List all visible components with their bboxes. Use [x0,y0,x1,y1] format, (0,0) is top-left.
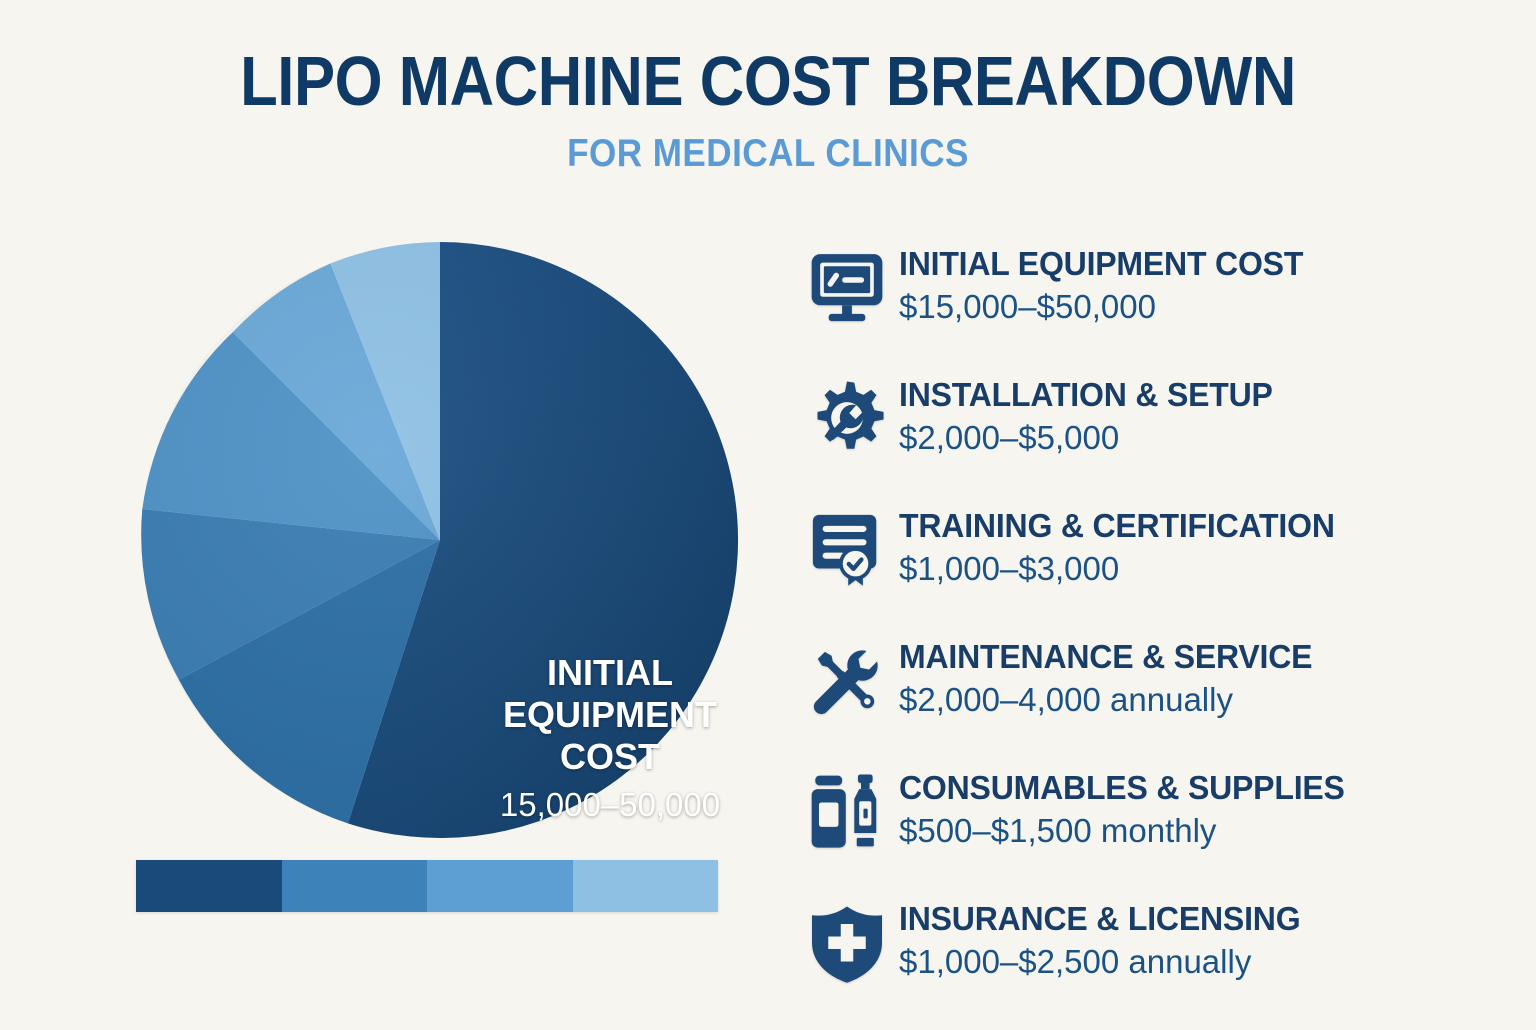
color-legend-bar [136,860,718,912]
gear-wrench-icon [795,375,899,457]
legend-item-installation-setup[interactable]: INSTALLATION & SETUP $2,000–$5,000 [795,375,1495,506]
monitor-icon [795,244,899,326]
certificate-icon [795,506,899,588]
pie-chart-panel: INITIAL EQUIPMENT COST 15,000–50,000 [120,222,760,922]
legend-title: MAINTENANCE & SERVICE [899,639,1312,675]
legend-title: INSTALLATION & SETUP [899,377,1273,413]
legend-item-insurance-licensing[interactable]: INSURANCE & LICENSING $1,000–$2,500 annu… [795,899,1495,1030]
legend-title: CONSUMABLES & SUPPLIES [899,770,1345,806]
legend-title: INSURANCE & LICENSING [899,901,1300,937]
legend-value: $2,000–$5,000 [899,420,1284,456]
legend-item-maintenance-service[interactable]: MAINTENANCE & SERVICE $2,000–4,000 annua… [795,637,1495,768]
legend-value: $500–$1,500 monthly [899,813,1359,849]
legend-value: $1,000–$2,500 annually [899,944,1313,980]
legend-value: $15,000–$50,000 [899,289,1316,325]
header: LIPO MACHINE COST BREAKDOWN FOR MEDICAL … [0,0,1536,176]
legend-item-consumables-supplies[interactable]: CONSUMABLES & SUPPLIES $500–$1,500 month… [795,768,1495,899]
legend-value: $1,000–$3,000 [899,551,1348,587]
legend-value: $2,000–4,000 annually [899,682,1325,718]
color-swatch-2 [282,860,428,912]
bottles-icon [795,768,899,850]
legend-title: INITIAL EQUIPMENT COST [899,246,1303,282]
color-swatch-4 [573,860,719,912]
legend-item-training-certification[interactable]: TRAINING & CERTIFICATION $1,000–$3,000 [795,506,1495,637]
page-title: LIPO MACHINE COST BREAKDOWN [92,46,1444,116]
color-swatch-1 [136,860,282,912]
pie-shading-overlay [142,242,738,838]
shield-cross-icon [795,899,899,985]
pie-chart [120,222,760,862]
color-swatch-3 [427,860,573,912]
cost-legend-list: INITIAL EQUIPMENT COST $15,000–$50,000 I… [795,244,1495,1030]
legend-item-initial-equipment-cost[interactable]: INITIAL EQUIPMENT COST $15,000–$50,000 [795,244,1495,375]
legend-title: TRAINING & CERTIFICATION [899,508,1335,544]
page-subtitle: FOR MEDICAL CLINICS [77,132,1459,176]
tools-icon [795,637,899,721]
pie-slices [141,242,738,838]
